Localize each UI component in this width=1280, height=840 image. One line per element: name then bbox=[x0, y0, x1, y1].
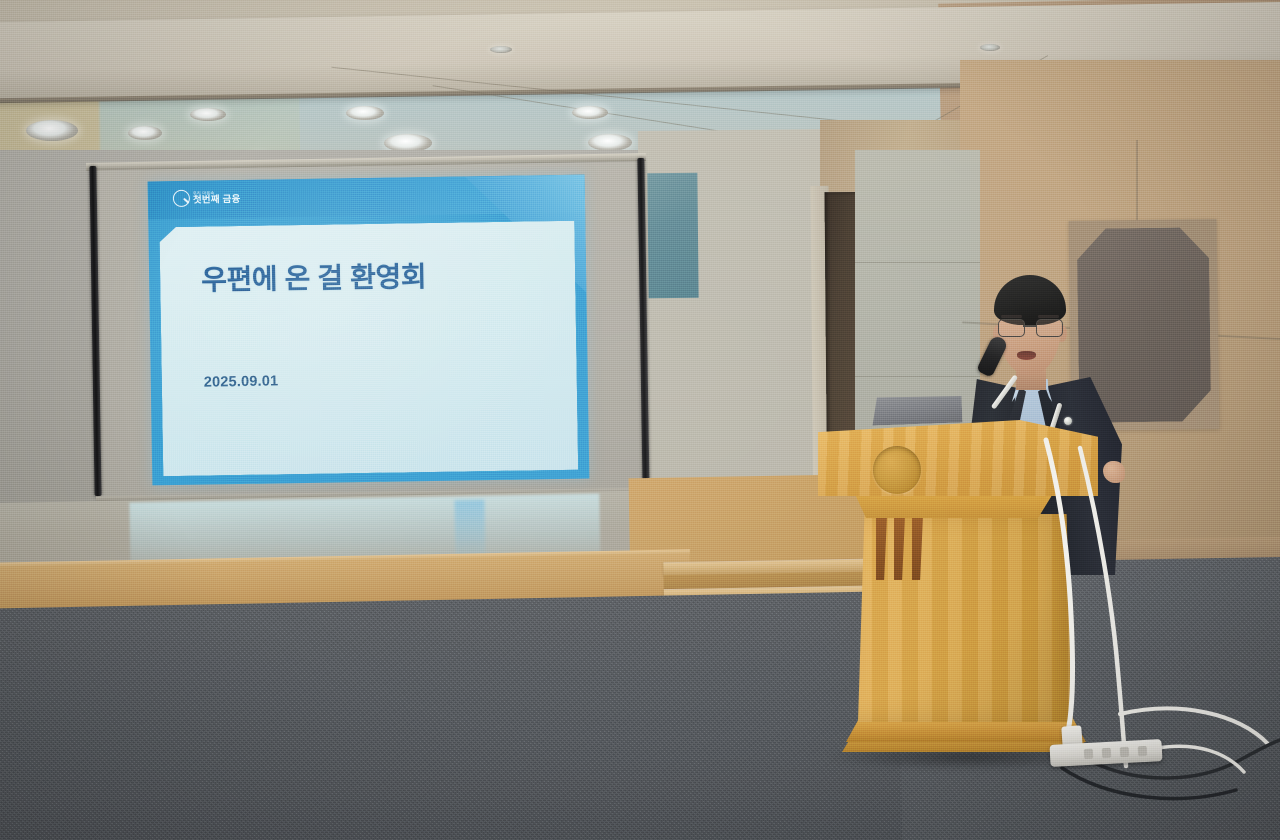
slide-logo-name: 첫번째 금융 bbox=[193, 195, 241, 205]
ceiling-downlight bbox=[346, 106, 384, 120]
podium-slat bbox=[876, 516, 887, 580]
eyeglass-lens-left bbox=[998, 319, 1025, 337]
hand-right bbox=[1103, 461, 1125, 483]
ceiling-downlight bbox=[490, 46, 512, 53]
podium-slat bbox=[912, 516, 923, 580]
eyeglasses-icon bbox=[997, 319, 1063, 335]
eyebrow-left bbox=[1001, 315, 1022, 318]
podium-top bbox=[818, 420, 1098, 496]
eyeglass-lens-right bbox=[1036, 319, 1063, 337]
presentation-slide: 우리 마음속 첫번째 금융 우편에 온 걸 환영회 2025.09.01 bbox=[148, 175, 590, 486]
podium-slat bbox=[894, 516, 905, 580]
power-socket[interactable] bbox=[1138, 746, 1148, 756]
ceiling-downlight bbox=[128, 126, 162, 140]
slide-logo-tagline: 우리 마음속 bbox=[193, 191, 241, 196]
ceiling-downlight bbox=[588, 134, 632, 151]
wall-panel-seam bbox=[855, 262, 980, 263]
slide-title: 우편에 온 걸 환영회 bbox=[201, 255, 427, 299]
slide-logo-text: 우리 마음속 첫번째 금융 bbox=[193, 191, 241, 205]
podium-slat-group bbox=[876, 516, 936, 580]
podium-top-grain bbox=[818, 420, 1098, 496]
slide-date: 2025.09.01 bbox=[204, 373, 279, 390]
circle-logo-icon bbox=[173, 190, 190, 207]
slide-logo: 우리 마음속 첫번째 금융 bbox=[173, 189, 241, 207]
eyebrow-right bbox=[1038, 315, 1059, 318]
podium-emblem bbox=[873, 446, 921, 494]
ceiling-downlight bbox=[26, 120, 78, 141]
mouth bbox=[1017, 351, 1036, 360]
presentation-photo-scene: 우리 마음속 첫번째 금융 우편에 온 걸 환영회 2025.09.01 bbox=[0, 0, 1280, 840]
wall-teal-panel bbox=[647, 173, 698, 299]
power-socket[interactable] bbox=[1120, 747, 1130, 757]
eyeglass-bridge bbox=[1023, 325, 1037, 327]
power-socket[interactable] bbox=[1102, 748, 1112, 758]
ceiling-downlight bbox=[190, 108, 226, 121]
ceiling-downlight bbox=[572, 106, 608, 119]
ceiling-downlight bbox=[980, 44, 1000, 51]
power-socket[interactable] bbox=[1084, 749, 1094, 759]
podium bbox=[818, 418, 1103, 773]
